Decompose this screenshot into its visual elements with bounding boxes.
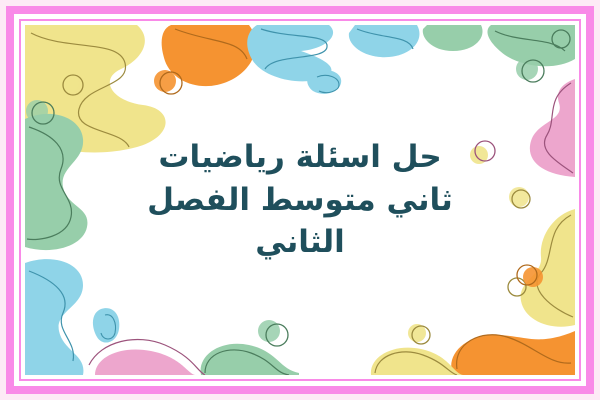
blob-yellow-right	[521, 209, 575, 327]
blob-pink-right	[530, 79, 575, 177]
blob-illustration	[25, 25, 575, 375]
blob-green-top-1	[423, 25, 483, 51]
circle-accent-orange-2	[523, 267, 543, 287]
poster-canvas: حل اسئلة رياضيات ثاني متوسط الفصل الثاني	[0, 0, 600, 400]
blob-orange-top	[162, 25, 256, 86]
decorative-stage	[25, 25, 575, 375]
circle-ring-yellow-3	[508, 278, 526, 296]
blob-blue-left	[25, 259, 83, 375]
blob-green-left	[25, 114, 87, 250]
blob-green-bottom	[201, 344, 299, 375]
circle-accent-green-3	[258, 320, 280, 342]
blob-orange-bottom-right	[451, 331, 575, 375]
